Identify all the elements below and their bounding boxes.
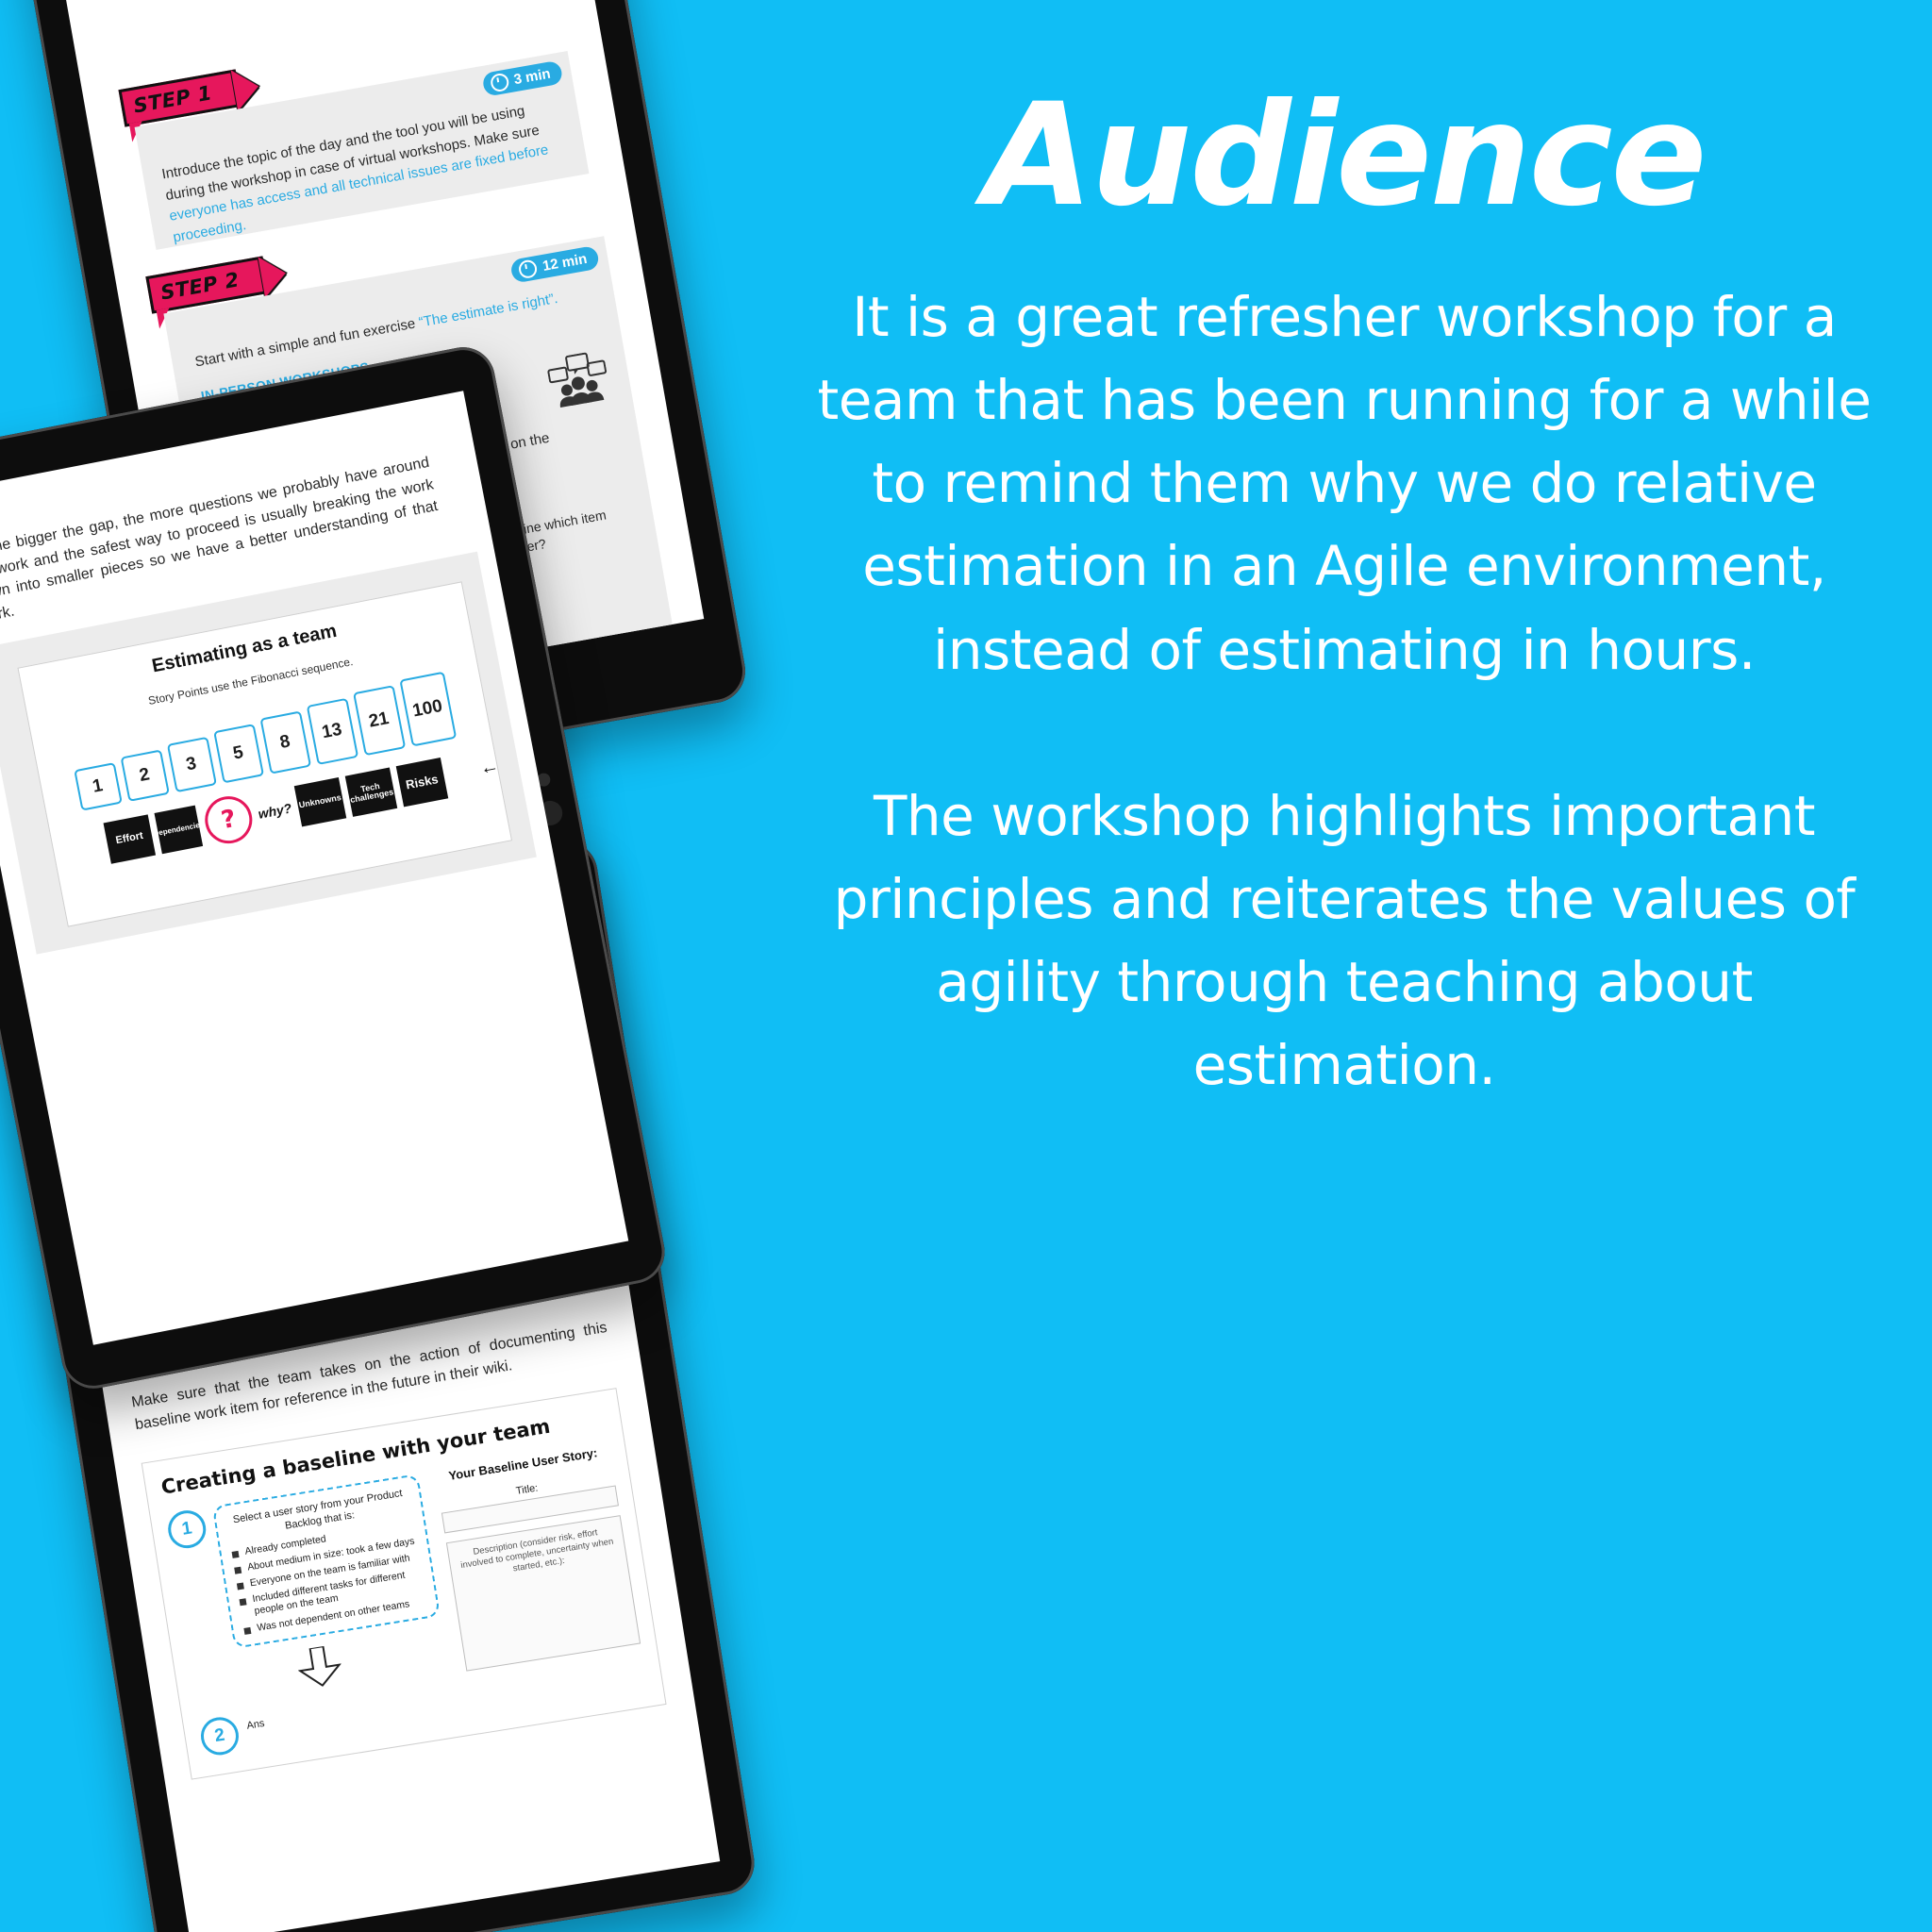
baseline-description-hint: Description (consider risk, effort invol… — [456, 1524, 619, 1584]
why-label: why? — [257, 800, 292, 822]
square-bullet-icon — [243, 1627, 251, 1635]
baseline-step-1-number: 1 — [165, 1508, 208, 1552]
middle-gray-panel: Estimating as a team Story Points use th… — [0, 552, 537, 955]
square-bullet-icon — [234, 1567, 241, 1574]
fib-box[interactable]: 13 — [306, 698, 358, 765]
factor-unknowns: Unknowns — [294, 777, 347, 826]
poster-canvas: As the team decides, note any specifics … — [0, 0, 1932, 1932]
fib-box[interactable]: 3 — [166, 737, 216, 792]
estimating-card: Estimating as a team Story Points use th… — [17, 581, 512, 926]
square-bullet-icon — [237, 1583, 244, 1591]
fib-box[interactable]: 5 — [213, 724, 264, 783]
fib-box[interactable]: 21 — [353, 685, 406, 756]
fib-box[interactable]: 1 — [74, 762, 123, 811]
why-bubble-icon: ? — [201, 792, 257, 848]
baseline-step-2-text: Ans — [244, 1710, 265, 1732]
baseline-description-field[interactable]: Description (consider risk, effort invol… — [446, 1515, 641, 1672]
fib-box[interactable]: 8 — [259, 711, 311, 774]
clock-icon — [490, 72, 510, 92]
left-arrow-icon: ← — [478, 756, 501, 780]
step-2-time-label: 12 min — [541, 251, 589, 275]
step-1-time-label: 3 min — [512, 66, 552, 89]
factor-tech-challenges: Tech challenges — [345, 768, 398, 817]
baseline-step-1-box: Select a user story from your Product Ba… — [212, 1474, 441, 1648]
down-arrow-icon — [294, 1643, 344, 1694]
baseline-card: Creating a baseline with your team 1 Sel… — [142, 1388, 667, 1779]
why-question-mark: ? — [219, 805, 239, 835]
right-text-column: Audience It is a great refresher worksho… — [811, 85, 1877, 1858]
step-2-intro-blue: “The estimate is right”. — [418, 291, 559, 331]
fib-box[interactable]: 2 — [120, 749, 169, 802]
baseline-step-2-number: 2 — [198, 1714, 241, 1757]
square-bullet-icon — [240, 1599, 247, 1607]
factor-dependencies: Dependencies — [155, 806, 204, 855]
people-icon — [545, 349, 612, 414]
factor-risks: Risks — [396, 758, 449, 807]
clock-icon — [518, 258, 539, 279]
page-title: Audience — [811, 85, 1877, 226]
audience-paragraph-2: The workshop highlights important princi… — [811, 774, 1877, 1108]
factor-effort: Effort — [104, 814, 157, 863]
square-bullet-icon — [232, 1551, 240, 1558]
fib-box[interactable]: 100 — [399, 672, 457, 747]
audience-paragraph-1: It is a great refresher workshop for a t… — [811, 275, 1877, 691]
